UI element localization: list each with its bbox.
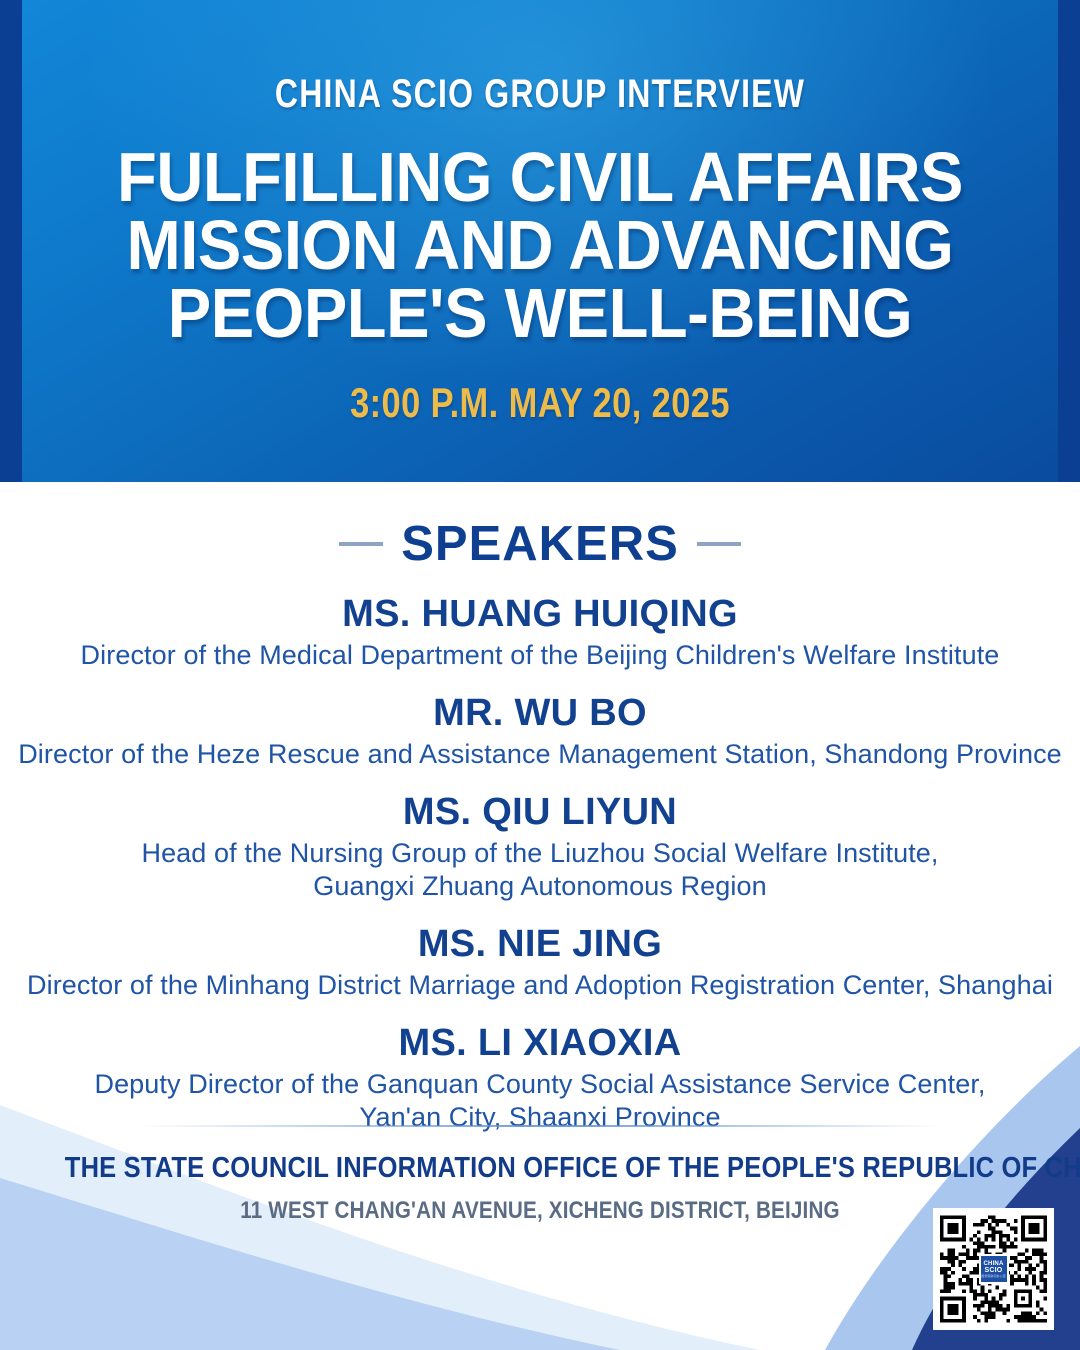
page-title: FULFILLING CIVIL AFFAIRS MISSION AND ADV… [38, 143, 1042, 347]
speaker-title-line: Head of the Nursing Group of the Liuzhou… [0, 837, 1080, 870]
speaker-title-line: Guangxi Zhuang Autonomous Region [0, 870, 1080, 903]
speaker-title-line: Deputy Director of the Ganquan County So… [0, 1068, 1080, 1101]
speakers-heading: SPEAKERS [0, 519, 1080, 569]
qr-logo-line2: SCIO [985, 1267, 1003, 1274]
speaker-item: MS. LI XIAOXIA Deputy Director of the Ga… [0, 1021, 1080, 1134]
footer-section: THE STATE COUNCIL INFORMATION OFFICE OF … [0, 1122, 1080, 1350]
qr-logo-line3: 国务院新闻办公室 [981, 1275, 1006, 1278]
qr-center-logo: CHINA SCIO 国务院新闻办公室 [979, 1254, 1009, 1284]
speaker-item: MS. NIE JING Director of the Minhang Dis… [0, 922, 1080, 1002]
speaker-item: MS. HUANG HUIQING Director of the Medica… [0, 592, 1080, 672]
event-datetime: 3:00 P.M. MAY 20, 2025 [97, 379, 983, 427]
speaker-name: MS. NIE JING [0, 922, 1080, 966]
title-line-3: PEOPLE'S WELL-BEING [38, 279, 1042, 347]
speaker-item: MS. QIU LIYUN Head of the Nursing Group … [0, 790, 1080, 903]
header-banner: CHINA SCIO GROUP INTERVIEW FULFILLING CI… [0, 0, 1080, 482]
speaker-name: MS. LI XIAOXIA [0, 1021, 1080, 1065]
dash-left-icon [339, 542, 383, 546]
speaker-name: MS. QIU LIYUN [0, 790, 1080, 834]
speaker-title-line: Director of the Medical Department of th… [0, 639, 1080, 672]
speaker-name: MR. WU BO [0, 691, 1080, 735]
footer-divider [140, 1125, 940, 1127]
event-kicker: CHINA SCIO GROUP INTERVIEW [108, 72, 972, 117]
poster-root: CHINA SCIO GROUP INTERVIEW FULFILLING CI… [0, 0, 1080, 1350]
speaker-title: Director of the Medical Department of th… [0, 639, 1080, 672]
speaker-title: Head of the Nursing Group of the Liuzhou… [0, 837, 1080, 903]
speaker-title: Director of the Heze Rescue and Assistan… [0, 738, 1080, 771]
speaker-name: MS. HUANG HUIQING [0, 592, 1080, 636]
speaker-title-line: Director of the Minhang District Marriag… [0, 969, 1080, 1002]
qr-code-canvas: CHINA SCIO 国务院新闻办公室 [940, 1215, 1047, 1323]
title-line-1: FULFILLING CIVIL AFFAIRS [38, 143, 1042, 211]
qr-code[interactable]: CHINA SCIO 国务院新闻办公室 [933, 1208, 1054, 1330]
speaker-title-line: Director of the Heze Rescue and Assistan… [0, 738, 1080, 771]
dash-right-icon [697, 542, 741, 546]
speaker-title: Director of the Minhang District Marriag… [0, 969, 1080, 1002]
footer-address: 11 WEST CHANG'AN AVENUE, XICHENG DISTRIC… [76, 1197, 1005, 1225]
speakers-section: SPEAKERS MS. HUANG HUIQING Director of t… [0, 482, 1080, 1122]
title-line-2: MISSION AND ADVANCING [38, 211, 1042, 279]
footer-organization: THE STATE COUNCIL INFORMATION OFFICE OF … [65, 1152, 1015, 1185]
speakers-heading-label: SPEAKERS [401, 519, 679, 569]
speaker-item: MR. WU BO Director of the Heze Rescue an… [0, 691, 1080, 771]
